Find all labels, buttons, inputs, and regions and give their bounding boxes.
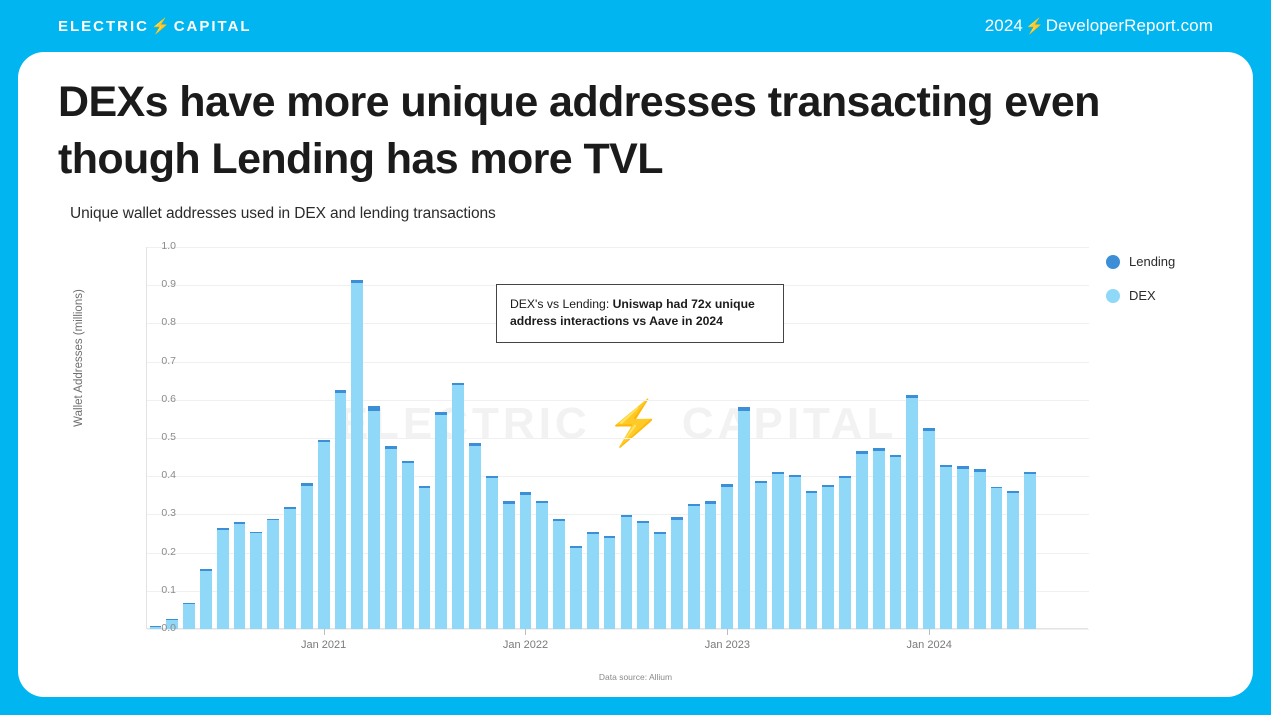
bar-segment-dex xyxy=(385,449,397,629)
bar-segment-dex xyxy=(974,472,986,629)
bar-segment-dex xyxy=(1024,474,1036,629)
y-axis-tick-label: 0.6 xyxy=(136,393,176,405)
x-axis-tick-mark xyxy=(929,629,930,635)
bar-segment-dex xyxy=(991,488,1003,629)
legend-swatch-lending xyxy=(1106,255,1120,269)
bar-column[interactable] xyxy=(856,451,868,629)
bar-column[interactable] xyxy=(890,455,902,629)
x-axis-tick-label: Jan 2021 xyxy=(301,639,346,651)
bar-column[interactable] xyxy=(637,521,649,629)
bar-column[interactable] xyxy=(267,519,279,629)
bar-segment-dex xyxy=(553,521,565,629)
y-axis-tick-label: 1.0 xyxy=(136,240,176,252)
bar-column[interactable] xyxy=(570,546,582,629)
bar-segment-dex xyxy=(671,520,683,629)
bar-column[interactable] xyxy=(553,519,565,629)
bar-column[interactable] xyxy=(940,465,952,629)
x-axis-tick-mark xyxy=(525,629,526,635)
bar-column[interactable] xyxy=(183,603,195,629)
y-axis-tick-label: 0.1 xyxy=(136,584,176,596)
bar-segment-dex xyxy=(789,477,801,629)
y-axis-tick-label: 0.7 xyxy=(136,355,176,367)
bar-segment-dex xyxy=(705,504,717,629)
chart-container: Wallet Addresses (millions) ELECTRIC ⚡ C… xyxy=(18,52,1253,697)
bar-segment-dex xyxy=(250,533,262,629)
bar-column[interactable] xyxy=(721,484,733,629)
bar-segment-dex xyxy=(469,446,481,629)
bar-column[interactable] xyxy=(671,517,683,629)
bar-segment-dex xyxy=(721,487,733,629)
bar-segment-dex xyxy=(200,571,212,629)
bar-segment-dex xyxy=(335,393,347,629)
bar-column[interactable] xyxy=(419,486,431,629)
bar-column[interactable] xyxy=(335,390,347,629)
bar-column[interactable] xyxy=(873,448,885,629)
developer-report-link[interactable]: 2024 ⚡ DeveloperReport.com xyxy=(985,16,1213,36)
y-axis-tick-label: 0.0 xyxy=(136,622,176,634)
bar-segment-dex xyxy=(940,467,952,629)
bar-segment-dex xyxy=(301,486,313,629)
bar-column[interactable] xyxy=(1024,472,1036,629)
bar-column[interactable] xyxy=(1007,491,1019,629)
bar-column[interactable] xyxy=(503,501,515,629)
bar-segment-dex xyxy=(755,483,767,629)
bar-segment-dex xyxy=(822,487,834,629)
bar-column[interactable] xyxy=(351,280,363,629)
bar-segment-dex xyxy=(738,411,750,630)
bar-column[interactable] xyxy=(385,446,397,629)
top-header-bar: ELECTRIC ⚡ CAPITAL 2024 ⚡ DeveloperRepor… xyxy=(0,0,1271,52)
bar-column[interactable] xyxy=(200,569,212,629)
bar-column[interactable] xyxy=(705,501,717,629)
bar-column[interactable] xyxy=(621,515,633,629)
bar-column[interactable] xyxy=(301,483,313,629)
bar-segment-dex xyxy=(452,385,464,629)
bar-segment-dex xyxy=(284,509,296,629)
bar-column[interactable] xyxy=(318,440,330,629)
bar-segment-dex xyxy=(621,517,633,629)
y-axis-tick-label: 0.9 xyxy=(136,278,176,290)
bar-column[interactable] xyxy=(368,406,380,629)
bar-segment-dex xyxy=(923,431,935,629)
bar-segment-dex xyxy=(806,493,818,629)
bar-segment-dex xyxy=(873,451,885,629)
y-axis-tick-label: 0.2 xyxy=(136,546,176,558)
bar-column[interactable] xyxy=(991,487,1003,629)
bar-segment-dex xyxy=(688,506,700,629)
bar-column[interactable] xyxy=(974,469,986,629)
electric-capital-logo: ELECTRIC ⚡ CAPITAL xyxy=(58,18,252,35)
bar-segment-dex xyxy=(402,463,414,629)
bar-column[interactable] xyxy=(520,492,532,629)
bar-column[interactable] xyxy=(822,485,834,629)
report-domain: DeveloperReport.com xyxy=(1046,16,1213,36)
annotation-lead: DEX's vs Lending: xyxy=(510,297,613,311)
y-axis-tick-label: 0.8 xyxy=(136,316,176,328)
bar-column[interactable] xyxy=(604,536,616,629)
bar-segment-dex xyxy=(503,504,515,629)
report-year: 2024 xyxy=(985,16,1023,36)
legend-label-dex: DEX xyxy=(1129,288,1156,303)
bar-column[interactable] xyxy=(839,476,851,629)
x-axis-tick-mark xyxy=(324,629,325,635)
slide-frame: ELECTRIC ⚡ CAPITAL 2024 ⚡ DeveloperRepor… xyxy=(0,0,1271,715)
bar-segment-dex xyxy=(419,488,431,629)
x-axis-tick-label: Jan 2024 xyxy=(907,639,952,651)
bar-column[interactable] xyxy=(587,532,599,629)
y-axis-title: Wallet Addresses (millions) xyxy=(73,289,85,427)
x-axis-tick-mark xyxy=(727,629,728,635)
chart-legend: Lending DEX xyxy=(1106,254,1175,322)
brand-word-left: ELECTRIC xyxy=(58,18,149,35)
bar-segment-dex xyxy=(587,534,599,630)
bar-column[interactable] xyxy=(250,532,262,629)
bar-column[interactable] xyxy=(957,466,969,629)
bar-column[interactable] xyxy=(654,532,666,629)
bar-column[interactable] xyxy=(469,443,481,629)
bar-column[interactable] xyxy=(789,475,801,629)
bar-segment-dex xyxy=(234,524,246,629)
annotation-callout: DEX's vs Lending: Uniswap had 72x unique… xyxy=(496,284,784,343)
bar-segment-dex xyxy=(856,454,868,629)
bar-segment-dex xyxy=(351,283,363,629)
bar-column[interactable] xyxy=(755,481,767,629)
bar-column[interactable] xyxy=(806,491,818,629)
bar-segment-dex xyxy=(368,411,380,629)
y-axis-tick-label: 0.3 xyxy=(136,507,176,519)
bar-segment-dex xyxy=(217,530,229,629)
bar-column[interactable] xyxy=(217,528,229,629)
bar-column[interactable] xyxy=(486,476,498,629)
bar-column[interactable] xyxy=(536,501,548,629)
bar-segment-dex xyxy=(604,538,616,629)
bar-segment-dex xyxy=(183,604,195,629)
y-axis-tick-label: 0.4 xyxy=(136,469,176,481)
bar-column[interactable] xyxy=(688,504,700,629)
bar-segment-dex xyxy=(890,457,902,629)
content-card: DEXs have more unique addresses transact… xyxy=(18,52,1253,697)
bar-column[interactable] xyxy=(452,383,464,629)
bolt-icon: ⚡ xyxy=(151,19,172,34)
legend-swatch-dex xyxy=(1106,289,1120,303)
gridline xyxy=(147,629,1089,630)
bolt-icon: ⚡ xyxy=(1025,17,1044,35)
bar-segment-dex xyxy=(637,523,649,629)
bar-segment-dex xyxy=(839,478,851,629)
bar-segment-dex xyxy=(1007,493,1019,629)
legend-label-lending: Lending xyxy=(1129,254,1175,269)
legend-item-dex[interactable]: DEX xyxy=(1106,288,1175,303)
x-axis-tick-label: Jan 2023 xyxy=(705,639,750,651)
bar-segment-dex xyxy=(267,520,279,629)
bar-segment-dex xyxy=(906,398,918,629)
bar-segment-dex xyxy=(654,534,666,630)
bar-segment-dex xyxy=(435,415,447,629)
bar-column[interactable] xyxy=(906,395,918,629)
legend-item-lending[interactable]: Lending xyxy=(1106,254,1175,269)
bar-column[interactable] xyxy=(435,412,447,629)
bar-segment-dex xyxy=(772,474,784,629)
data-source-note: Data source: Allium xyxy=(18,672,1253,682)
bar-segment-dex xyxy=(318,442,330,629)
bar-segment-dex xyxy=(486,478,498,629)
bar-segment-dex xyxy=(570,548,582,629)
bar-column[interactable] xyxy=(402,461,414,629)
bar-column[interactable] xyxy=(738,407,750,629)
bar-column[interactable] xyxy=(772,472,784,629)
bar-column[interactable] xyxy=(234,522,246,629)
brand-word-right: CAPITAL xyxy=(174,18,252,35)
x-axis-tick-label: Jan 2022 xyxy=(503,639,548,651)
bar-column[interactable] xyxy=(284,507,296,629)
bar-column[interactable] xyxy=(923,428,935,629)
bar-segment-dex xyxy=(520,495,532,629)
bar-segment-dex xyxy=(957,469,969,629)
y-axis-tick-label: 0.5 xyxy=(136,431,176,443)
bar-segment-dex xyxy=(536,503,548,629)
